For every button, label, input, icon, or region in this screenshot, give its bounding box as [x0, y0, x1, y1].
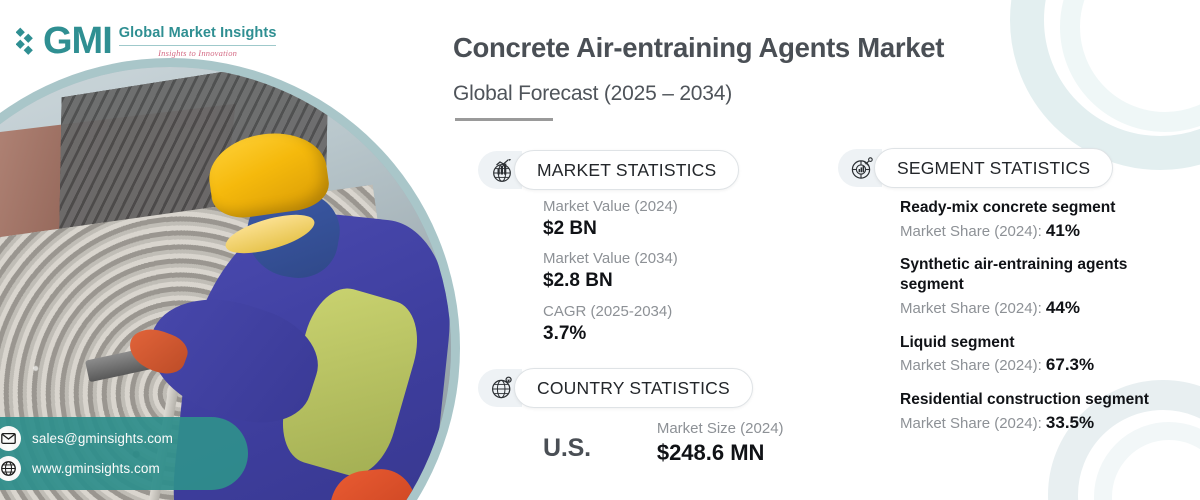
logo-wordmark: Global Market Insights Insights to Innov… [119, 24, 277, 58]
segment-share-value: 33.5% [1046, 413, 1094, 432]
market-stat-label: CAGR (2025-2034) [543, 303, 678, 322]
logo-abbr: GMI [43, 22, 112, 60]
country-statistics-label: COUNTRY STATISTICS [537, 378, 730, 399]
decorative-ring-top-right-inner [1060, 0, 1200, 132]
market-stat-item: Market Value (2034) $2.8 BN [543, 250, 678, 293]
market-stat-value: $2 BN [543, 217, 678, 242]
envelope-icon [0, 426, 21, 451]
logo-divider [119, 45, 277, 46]
segment-name: Liquid segment [900, 333, 1192, 353]
country-statistics-label-box: COUNTRY STATISTICS [514, 368, 753, 408]
market-statistics-label: MARKET STATISTICS [537, 160, 716, 181]
segment-share-label: Market Share (2024): [900, 415, 1042, 432]
country-metric-label: Market Size (2024) [657, 420, 784, 437]
segment-item: Ready-mix concrete segment Market Share … [900, 198, 1192, 242]
segment-name: Synthetic air-entraining agents segment [900, 255, 1192, 294]
country-statistics-content: U.S. Market Size (2024) $248.6 MN [543, 420, 784, 466]
country-metric: Market Size (2024) $248.6 MN [657, 420, 784, 466]
title-divider [455, 118, 553, 121]
logo-company-name: Global Market Insights [119, 26, 277, 42]
market-stat-value: $2.8 BN [543, 269, 678, 294]
market-stat-label: Market Value (2034) [543, 250, 678, 269]
contact-website-row[interactable]: www.gminsights.com [0, 456, 234, 481]
segment-name: Ready-mix concrete segment [900, 198, 1192, 218]
gmi-diamonds-icon [16, 24, 36, 58]
market-stat-item: CAGR (2025-2034) 3.7% [543, 303, 678, 346]
segment-share-line: Market Share (2024): 44% [900, 296, 1192, 320]
segment-share-line: Market Share (2024): 33.5% [900, 411, 1192, 435]
contact-pill: sales@gminsights.com www.gminsights.com [0, 417, 248, 490]
globe-icon [0, 456, 21, 481]
contact-website-text: www.gminsights.com [32, 461, 160, 476]
segment-name: Residential construction segment [900, 390, 1192, 410]
segment-share-value: 67.3% [1046, 355, 1094, 374]
logo-tagline: Insights to Innovation [119, 48, 277, 58]
country-name: U.S. [543, 420, 591, 463]
contact-email-row[interactable]: sales@gminsights.com [0, 426, 234, 451]
segment-statistics-header: SEGMENT STATISTICS [838, 148, 1113, 188]
segment-share-line: Market Share (2024): 41% [900, 219, 1192, 243]
page-subtitle: Global Forecast (2025 – 2034) [453, 82, 732, 106]
market-statistics-header: MARKET STATISTICS [478, 150, 739, 190]
country-metric-value: $248.6 MN [657, 440, 765, 466]
brand-logo[interactable]: GMI Global Market Insights Insights to I… [16, 22, 276, 60]
segment-item: Residential construction segment Market … [900, 390, 1192, 434]
contact-email-text: sales@gminsights.com [32, 431, 173, 446]
market-statistics-label-box: MARKET STATISTICS [514, 150, 739, 190]
segment-share-line: Market Share (2024): 67.3% [900, 353, 1192, 377]
segment-statistics-label: SEGMENT STATISTICS [897, 158, 1090, 179]
segment-share-label: Market Share (2024): [900, 300, 1042, 317]
segment-statistics-list: Ready-mix concrete segment Market Share … [900, 198, 1192, 448]
segment-statistics-label-box: SEGMENT STATISTICS [874, 148, 1113, 188]
market-stat-value: 3.7% [543, 322, 678, 347]
market-stat-label: Market Value (2024) [543, 198, 678, 217]
segment-item: Liquid segment Market Share (2024): 67.3… [900, 333, 1192, 377]
segment-share-label: Market Share (2024): [900, 223, 1042, 240]
segment-item: Synthetic air-entraining agents segment … [900, 255, 1192, 319]
infographic-canvas: sales@gminsights.com www.gminsights.com [0, 0, 1200, 500]
decorative-ring-top-right-outer [1010, 0, 1200, 170]
segment-share-value: 44% [1046, 298, 1080, 317]
segment-share-value: 41% [1046, 221, 1080, 240]
market-stat-item: Market Value (2024) $2 BN [543, 198, 678, 241]
market-statistics-list: Market Value (2024) $2 BN Market Value (… [543, 198, 678, 355]
country-statistics-header: COUNTRY STATISTICS [478, 368, 753, 408]
page-title: Concrete Air-entraining Agents Market [453, 32, 944, 64]
segment-share-label: Market Share (2024): [900, 357, 1042, 374]
